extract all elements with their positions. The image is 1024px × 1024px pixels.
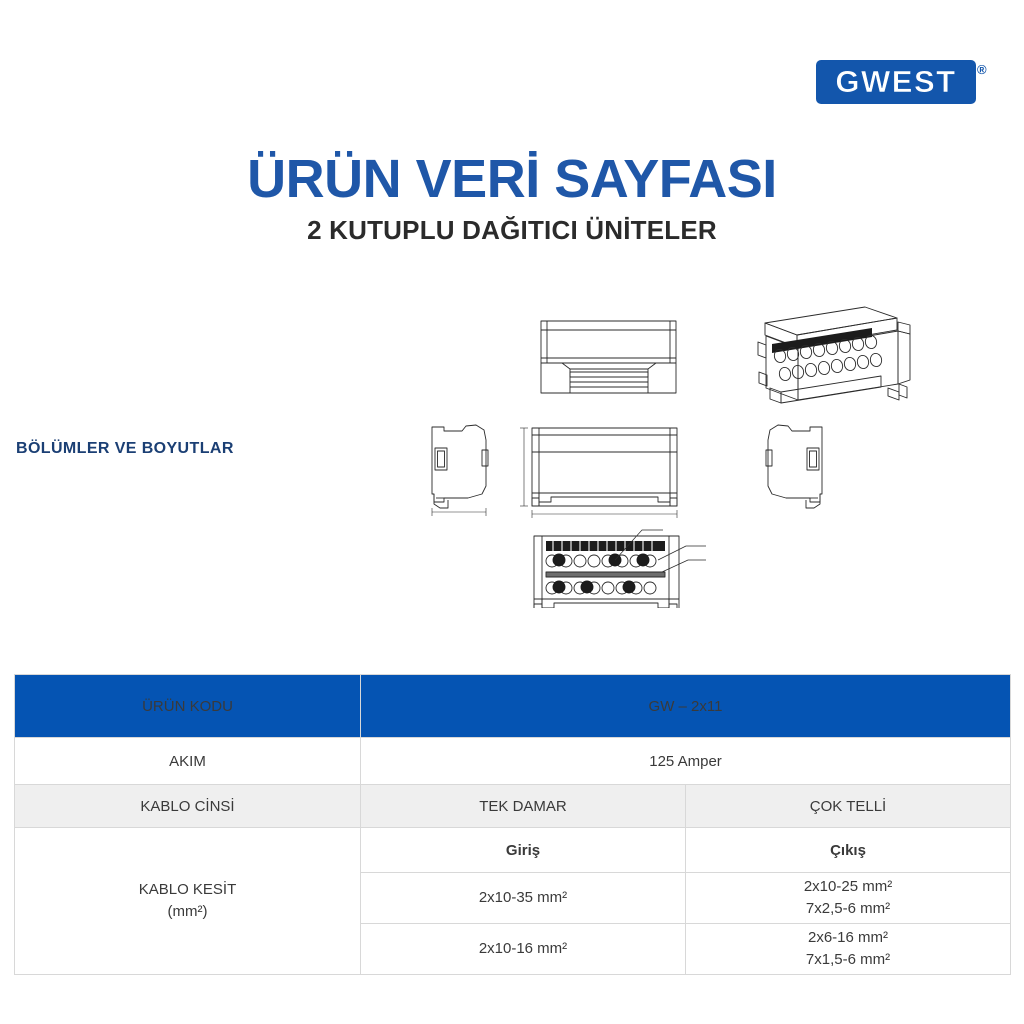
logo-wordmark: GWEST [816,60,976,104]
drawing-bottom-terminal-face [534,530,706,608]
cell-output-label: Çıkış [686,828,1011,873]
cell-single-core-value-2: 2x10-16 mm² [361,924,686,975]
cell-product-code-value: GW – 2x11 [361,675,1011,738]
technical-drawings-group [410,288,940,608]
cell-multi-strand-value-2: 2x6-16 mm² 7x1,5-6 mm² [686,924,1011,975]
multi-strand-2-line2: 7x1,5-6 mm² [686,949,1010,971]
page-title: ÜRÜN VERİ SAYFASI [0,152,1024,207]
drawing-front-elevation [520,428,677,518]
title-block: ÜRÜN VERİ SAYFASI 2 KUTUPLU DAĞITICI ÜNİ… [0,152,1024,246]
table-row-cable-type: KABLO CİNSİ TEK DAMAR ÇOK TELLİ [15,785,1011,828]
cell-input-label: Giriş [361,828,686,873]
registered-trademark-icon: ® [977,62,987,77]
cell-cable-type-label: KABLO CİNSİ [15,785,361,828]
cell-current-label: AKIM [15,738,361,785]
cell-cable-type-multi: ÇOK TELLİ [686,785,1011,828]
multi-strand-2-line1: 2x6-16 mm² [686,927,1010,949]
cross-section-label-text: KABLO KESİT [15,879,360,902]
multi-strand-1-line2: 7x2,5-6 mm² [686,898,1010,920]
brand-logo: GWEST ® [816,60,984,106]
cell-current-value: 125 Amper [361,738,1011,785]
multi-strand-1-line1: 2x10-25 mm² [686,876,1010,898]
page-subtitle: 2 KUTUPLU DAĞITICI ÜNİTELER [0,215,1024,246]
cell-cross-section-label: KABLO KESİT (mm²) [15,828,361,975]
cell-product-code-label: ÜRÜN KODU [15,675,361,738]
table-row-io-headers: KABLO KESİT (mm²) Giriş Çıkış [15,828,1011,873]
drawing-left-side-profile [432,425,488,516]
cell-single-core-value-1: 2x10-35 mm² [361,873,686,924]
specification-table: ÜRÜN KODU GW – 2x11 AKIM 125 Amper KABLO… [14,674,1011,975]
cell-multi-strand-value-1: 2x10-25 mm² 7x2,5-6 mm² [686,873,1011,924]
drawing-right-side-profile [766,425,822,508]
cross-section-unit-text: (mm²) [15,901,360,924]
section-heading-dimensions: BÖLÜMLER VE BOYUTLAR [16,440,234,458]
cell-cable-type-single: TEK DAMAR [361,785,686,828]
table-row-product-code: ÜRÜN KODU GW – 2x11 [15,675,1011,738]
drawing-top-view [541,321,676,393]
table-row-current: AKIM 125 Amper [15,738,1011,785]
drawing-isometric-view [758,307,910,403]
